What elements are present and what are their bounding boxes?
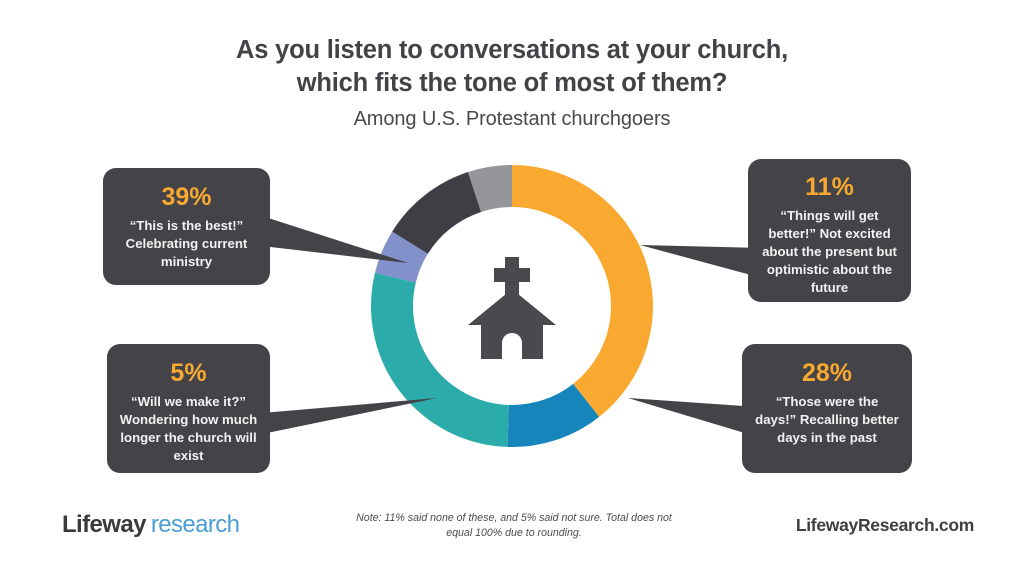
pointer-5 <box>262 398 440 438</box>
logo-secondary-text: research <box>151 511 240 538</box>
pointer-39 <box>262 216 412 266</box>
callout-percent: 39% <box>116 185 257 210</box>
pointer-28 <box>628 392 758 440</box>
callout-box-11[interactable]: 11% “Things will get better!” Not excite… <box>748 159 911 302</box>
page-subtitle: Among U.S. Protestant churchgoers <box>0 108 1024 131</box>
title-line-2: which fits the tone of most of them? <box>0 67 1024 100</box>
callout-box-28[interactable]: 28% “Those were the days!” Recalling bet… <box>742 344 912 473</box>
callout-percent: 11% <box>760 175 899 200</box>
callout-description: “Things will get better!” Not excited ab… <box>762 208 897 295</box>
pointer-11 <box>640 232 762 278</box>
chart-note: Note: 11% said none of these, and 5% sai… <box>347 511 681 542</box>
callout-percent: 28% <box>754 361 900 386</box>
website-url: LifewayResearch.com <box>796 515 974 536</box>
callout-description: “This is the best!” Celebrating current … <box>126 218 248 269</box>
header: As you listen to conversations at your c… <box>0 0 1024 131</box>
callout-description: “Those were the days!” Recalling better … <box>755 394 899 445</box>
callout-box-5[interactable]: 5% “Will we make it?” Wondering how much… <box>107 344 270 473</box>
church-icon <box>464 251 560 361</box>
callout-description: “Will we make it?” Wondering how much lo… <box>120 394 257 463</box>
callout-percent: 5% <box>118 361 259 386</box>
page-title: As you listen to conversations at your c… <box>0 34 1024 99</box>
logo-primary-text: Lifeway <box>62 511 146 538</box>
callout-box-39[interactable]: 39% “This is the best!” Celebrating curr… <box>103 168 270 285</box>
title-line-1: As you listen to conversations at your c… <box>0 34 1024 67</box>
lifeway-research-logo: Lifewayresearch <box>62 511 239 539</box>
